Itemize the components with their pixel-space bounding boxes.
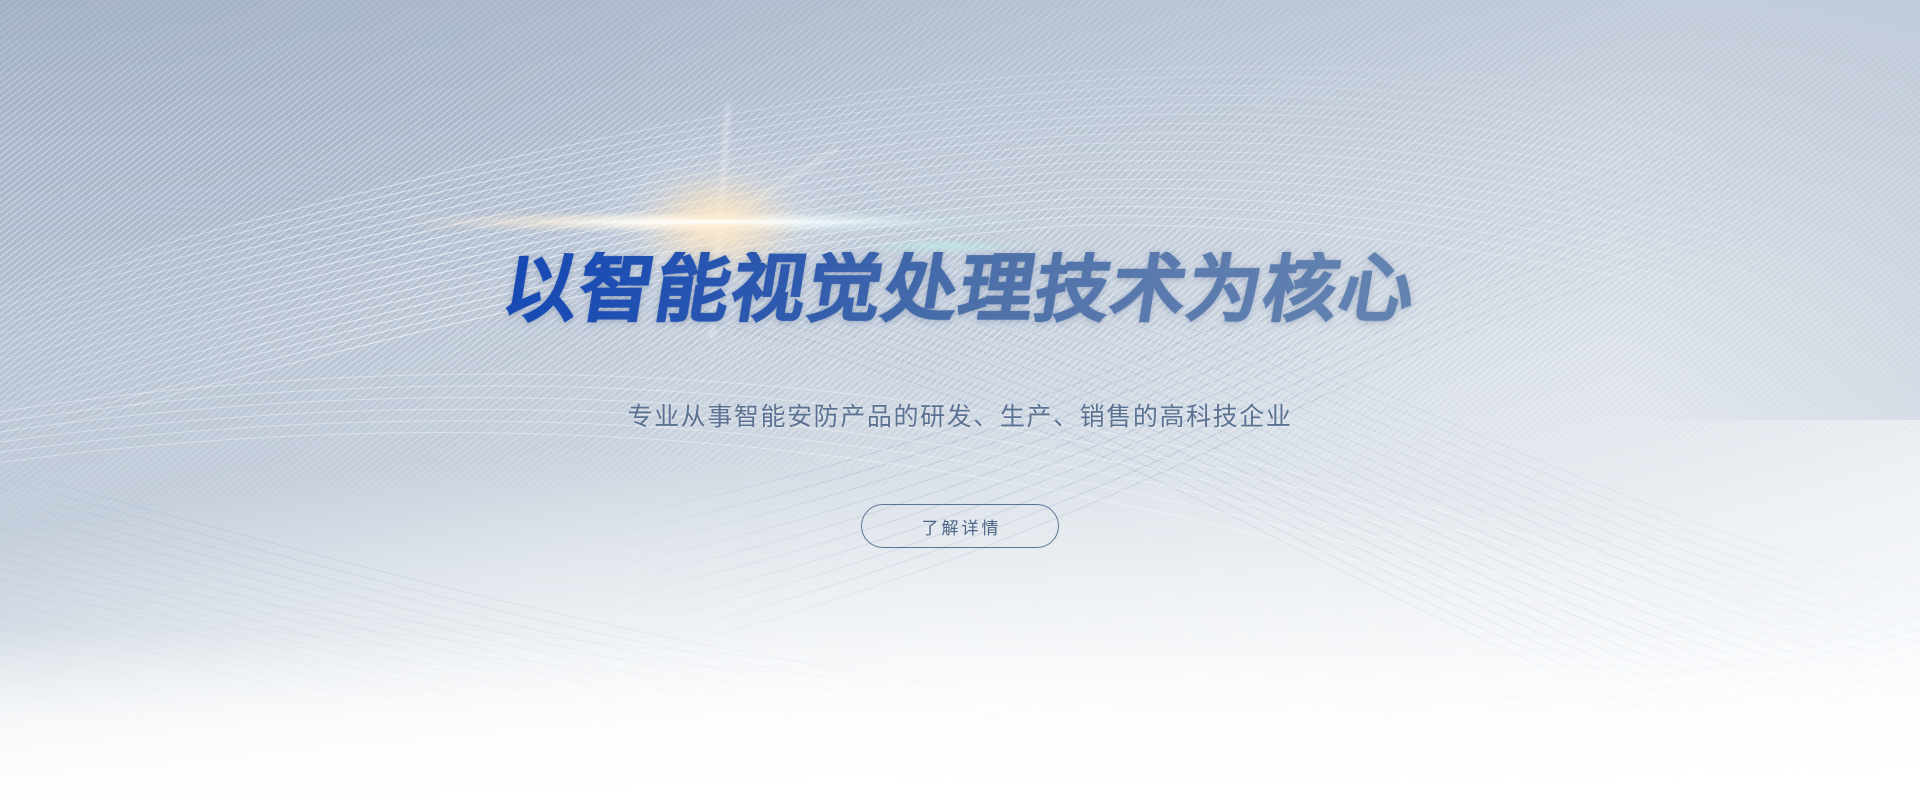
hero-banner: 以智能视觉处理技术为核心 以智能视觉处理技术为核心 专业从事智能安防产品的研发、… — [0, 0, 1920, 800]
wave-line-field — [0, 0, 1920, 800]
learn-more-button[interactable]: 了解详情 — [861, 504, 1059, 548]
cta-container: 了解详情 — [0, 504, 1920, 548]
